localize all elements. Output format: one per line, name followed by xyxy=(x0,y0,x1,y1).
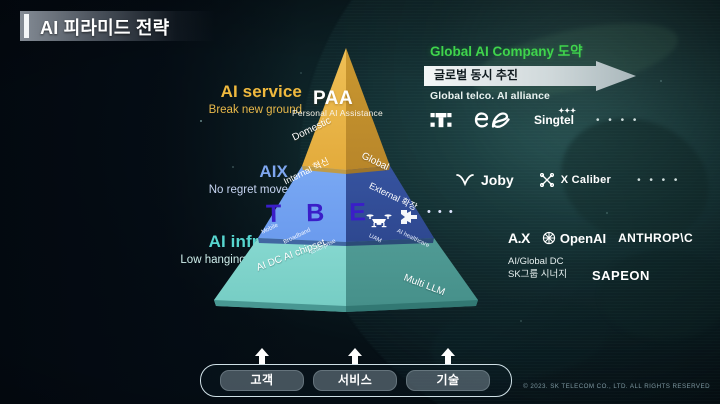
slide-canvas: AI 피라미드 전략 AI service Break new ground A… xyxy=(0,0,720,404)
ax-logo-text: A.X xyxy=(508,230,530,246)
singtel-logo: ✦✦✦ Singtel xyxy=(534,113,574,127)
anthropic-logo-text: ANTHROP\C xyxy=(618,231,693,245)
paa-subtitle: Personal AI Assistance xyxy=(292,108,383,118)
anthropic-logo: ANTHROP\C xyxy=(618,231,693,245)
foundation-chip-customer-label: 고객 xyxy=(221,371,303,390)
mobility-trailing-dots: • • • • xyxy=(637,175,680,186)
e-and-logo xyxy=(474,110,512,130)
pyramid-bottom-right xyxy=(346,238,478,306)
copyright-notice: © 2023. SK TELECOM CO., LTD. ALL RIGHTS … xyxy=(523,383,710,390)
foundation-chip-technology-label: 기술 xyxy=(407,371,489,390)
t-mobile-logo xyxy=(430,110,452,130)
singtel-sparkle-icon: ✦✦✦ xyxy=(558,107,576,115)
dc-synergy-line1: AI/Global DC xyxy=(508,256,567,269)
openai-logo-text: OpenAI xyxy=(560,231,606,246)
paa-title: PAA xyxy=(313,88,353,110)
foundation-chip-service-label: 서비스 xyxy=(314,371,396,390)
sapeon-logo-row: SAPEON xyxy=(592,268,650,283)
telco-logo-row: ✦✦✦ Singtel • • • • xyxy=(430,110,639,130)
ax-logo: A.X xyxy=(508,230,530,246)
joby-logo-text: Joby xyxy=(481,172,514,188)
x-caliber-logo-text: X Caliber xyxy=(561,174,611,186)
singtel-logo-text: Singtel xyxy=(534,113,574,127)
alliance-title: Global telco. AI alliance xyxy=(430,90,550,102)
up-arrow-icon xyxy=(347,348,363,364)
foundation-chip-service[interactable]: 서비스 xyxy=(313,370,397,391)
foundation-chip-technology[interactable]: 기술 xyxy=(406,370,490,391)
dc-synergy-line2: SK그룹 시너지 xyxy=(508,269,567,282)
sapeon-logo: SAPEON xyxy=(592,268,650,283)
joby-logo: Joby xyxy=(456,172,514,188)
foundation-chip-customer[interactable]: 고객 xyxy=(220,370,304,391)
openai-logo: OpenAI xyxy=(542,231,606,246)
global-goal-heading: Global AI Company 도약 xyxy=(430,40,583,60)
llm-logo-row: A.X OpenAI ANTHROP\C xyxy=(508,230,693,246)
x-caliber-logo: X Caliber xyxy=(540,173,611,187)
arrow-label: 글로벌 동시 추진 xyxy=(434,66,518,83)
sapeon-logo-text: SAPEON xyxy=(592,268,650,283)
tbe-label: T B E xyxy=(266,198,375,229)
up-arrow-icon xyxy=(254,348,270,364)
middle-trailing-dots: • • • xyxy=(427,206,455,218)
mobility-logo-row: Joby X Caliber • • • • xyxy=(456,172,680,188)
telco-trailing-dots: • • • • xyxy=(596,115,639,126)
dc-synergy-text: AI/Global DC SK그룹 시너지 xyxy=(508,256,567,282)
up-arrow-icon xyxy=(440,348,456,364)
